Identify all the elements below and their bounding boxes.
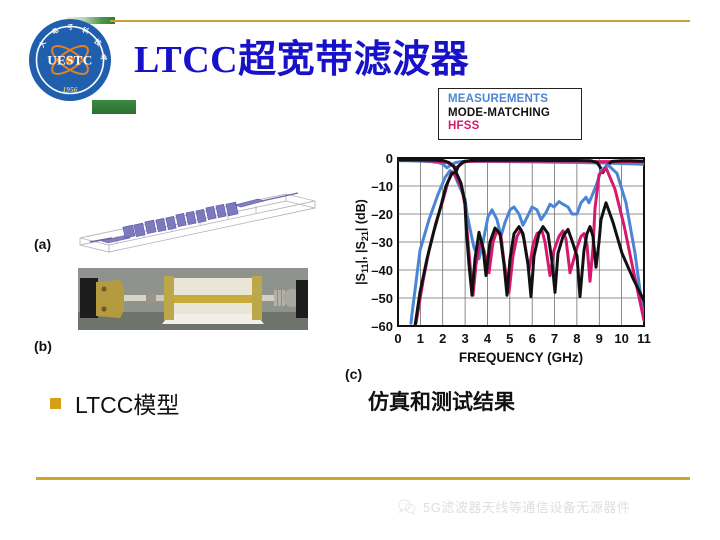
svg-text:1956: 1956 xyxy=(63,85,78,94)
chart-gridlines xyxy=(398,158,644,326)
bullet-square-icon xyxy=(50,398,61,409)
svg-text:0: 0 xyxy=(386,151,393,166)
svg-text:10: 10 xyxy=(614,331,628,346)
series-mode-matching-s11 xyxy=(415,172,644,326)
chart-legend: MEASUREMENTS MODE-MATCHING HFSS xyxy=(438,88,582,140)
caption-simulation-results: 仿真和测试结果 xyxy=(368,386,515,416)
svg-text:–50: –50 xyxy=(371,291,393,306)
legend-item-hfss: HFSS xyxy=(448,120,574,134)
figure-c-label: (c) xyxy=(345,366,362,382)
chart-ylabel: |S11|, |S21| (dB) xyxy=(354,199,370,285)
watermark: 5G滤波器天线等通信设备无源器件 xyxy=(398,497,630,516)
chart-x-ticks: 0 1 2 3 4 5 6 7 8 9 10 11 xyxy=(394,331,650,346)
green-accent-chip-lower xyxy=(92,100,136,114)
series-hfss-s11 xyxy=(416,168,644,323)
watermark-text: 5G滤波器天线等通信设备无源器件 xyxy=(423,497,630,516)
legend-item-measurements: MEASUREMENTS xyxy=(448,93,574,107)
chart-xlabel: FREQUENCY (GHz) xyxy=(459,350,583,365)
page-title: LTCC超宽带滤波器 xyxy=(134,28,469,83)
svg-text:0: 0 xyxy=(394,331,401,346)
svg-text:|S11|, |S21| (dB): |S11|, |S21| (dB) xyxy=(354,199,370,285)
svg-text:1: 1 xyxy=(417,331,424,346)
bullet-label-left: LTCC模型 xyxy=(75,386,179,420)
figure-a-ltcc-3d-model xyxy=(72,188,322,256)
figure-b-label: (b) xyxy=(34,338,52,354)
figure-b-fabricated-filter-photo xyxy=(78,268,308,330)
bottom-accent-rule xyxy=(36,477,690,480)
svg-text:–30: –30 xyxy=(371,235,393,250)
svg-text:–10: –10 xyxy=(371,179,393,194)
uestc-logo: UESTC 1956 电 子 科 技 大 学 xyxy=(28,18,112,102)
svg-text:9: 9 xyxy=(596,331,603,346)
bullet-item-ltcc-model: LTCC模型 xyxy=(50,386,179,420)
svg-text:6: 6 xyxy=(529,331,536,346)
svg-text:11: 11 xyxy=(637,331,651,346)
chart-y-ticks: 0 –10 –20 –30 –40 –50 –60 xyxy=(371,151,393,334)
svg-text:4: 4 xyxy=(484,331,492,346)
svg-text:7: 7 xyxy=(551,331,558,346)
svg-text:UESTC: UESTC xyxy=(47,53,92,68)
svg-text:3: 3 xyxy=(461,331,468,346)
legend-item-mode-matching: MODE-MATCHING xyxy=(448,107,574,121)
top-accent-rule xyxy=(110,20,690,22)
figure-c-chart: MEASUREMENTS MODE-MATCHING HFSS |S11|, |… xyxy=(352,88,664,373)
figure-a-label: (a) xyxy=(34,236,51,252)
slide-canvas: UESTC 1956 电 子 科 技 大 学 LTCC超宽带滤波器 (a) xyxy=(0,0,720,540)
svg-text:8: 8 xyxy=(573,331,580,346)
svg-text:5: 5 xyxy=(506,331,513,346)
svg-text:–40: –40 xyxy=(371,263,393,278)
s-parameter-plot: |S11|, |S21| (dB) xyxy=(352,150,664,372)
wechat-icon xyxy=(398,499,416,515)
svg-text:–60: –60 xyxy=(371,319,393,334)
svg-text:2: 2 xyxy=(439,331,446,346)
svg-text:–20: –20 xyxy=(371,207,393,222)
